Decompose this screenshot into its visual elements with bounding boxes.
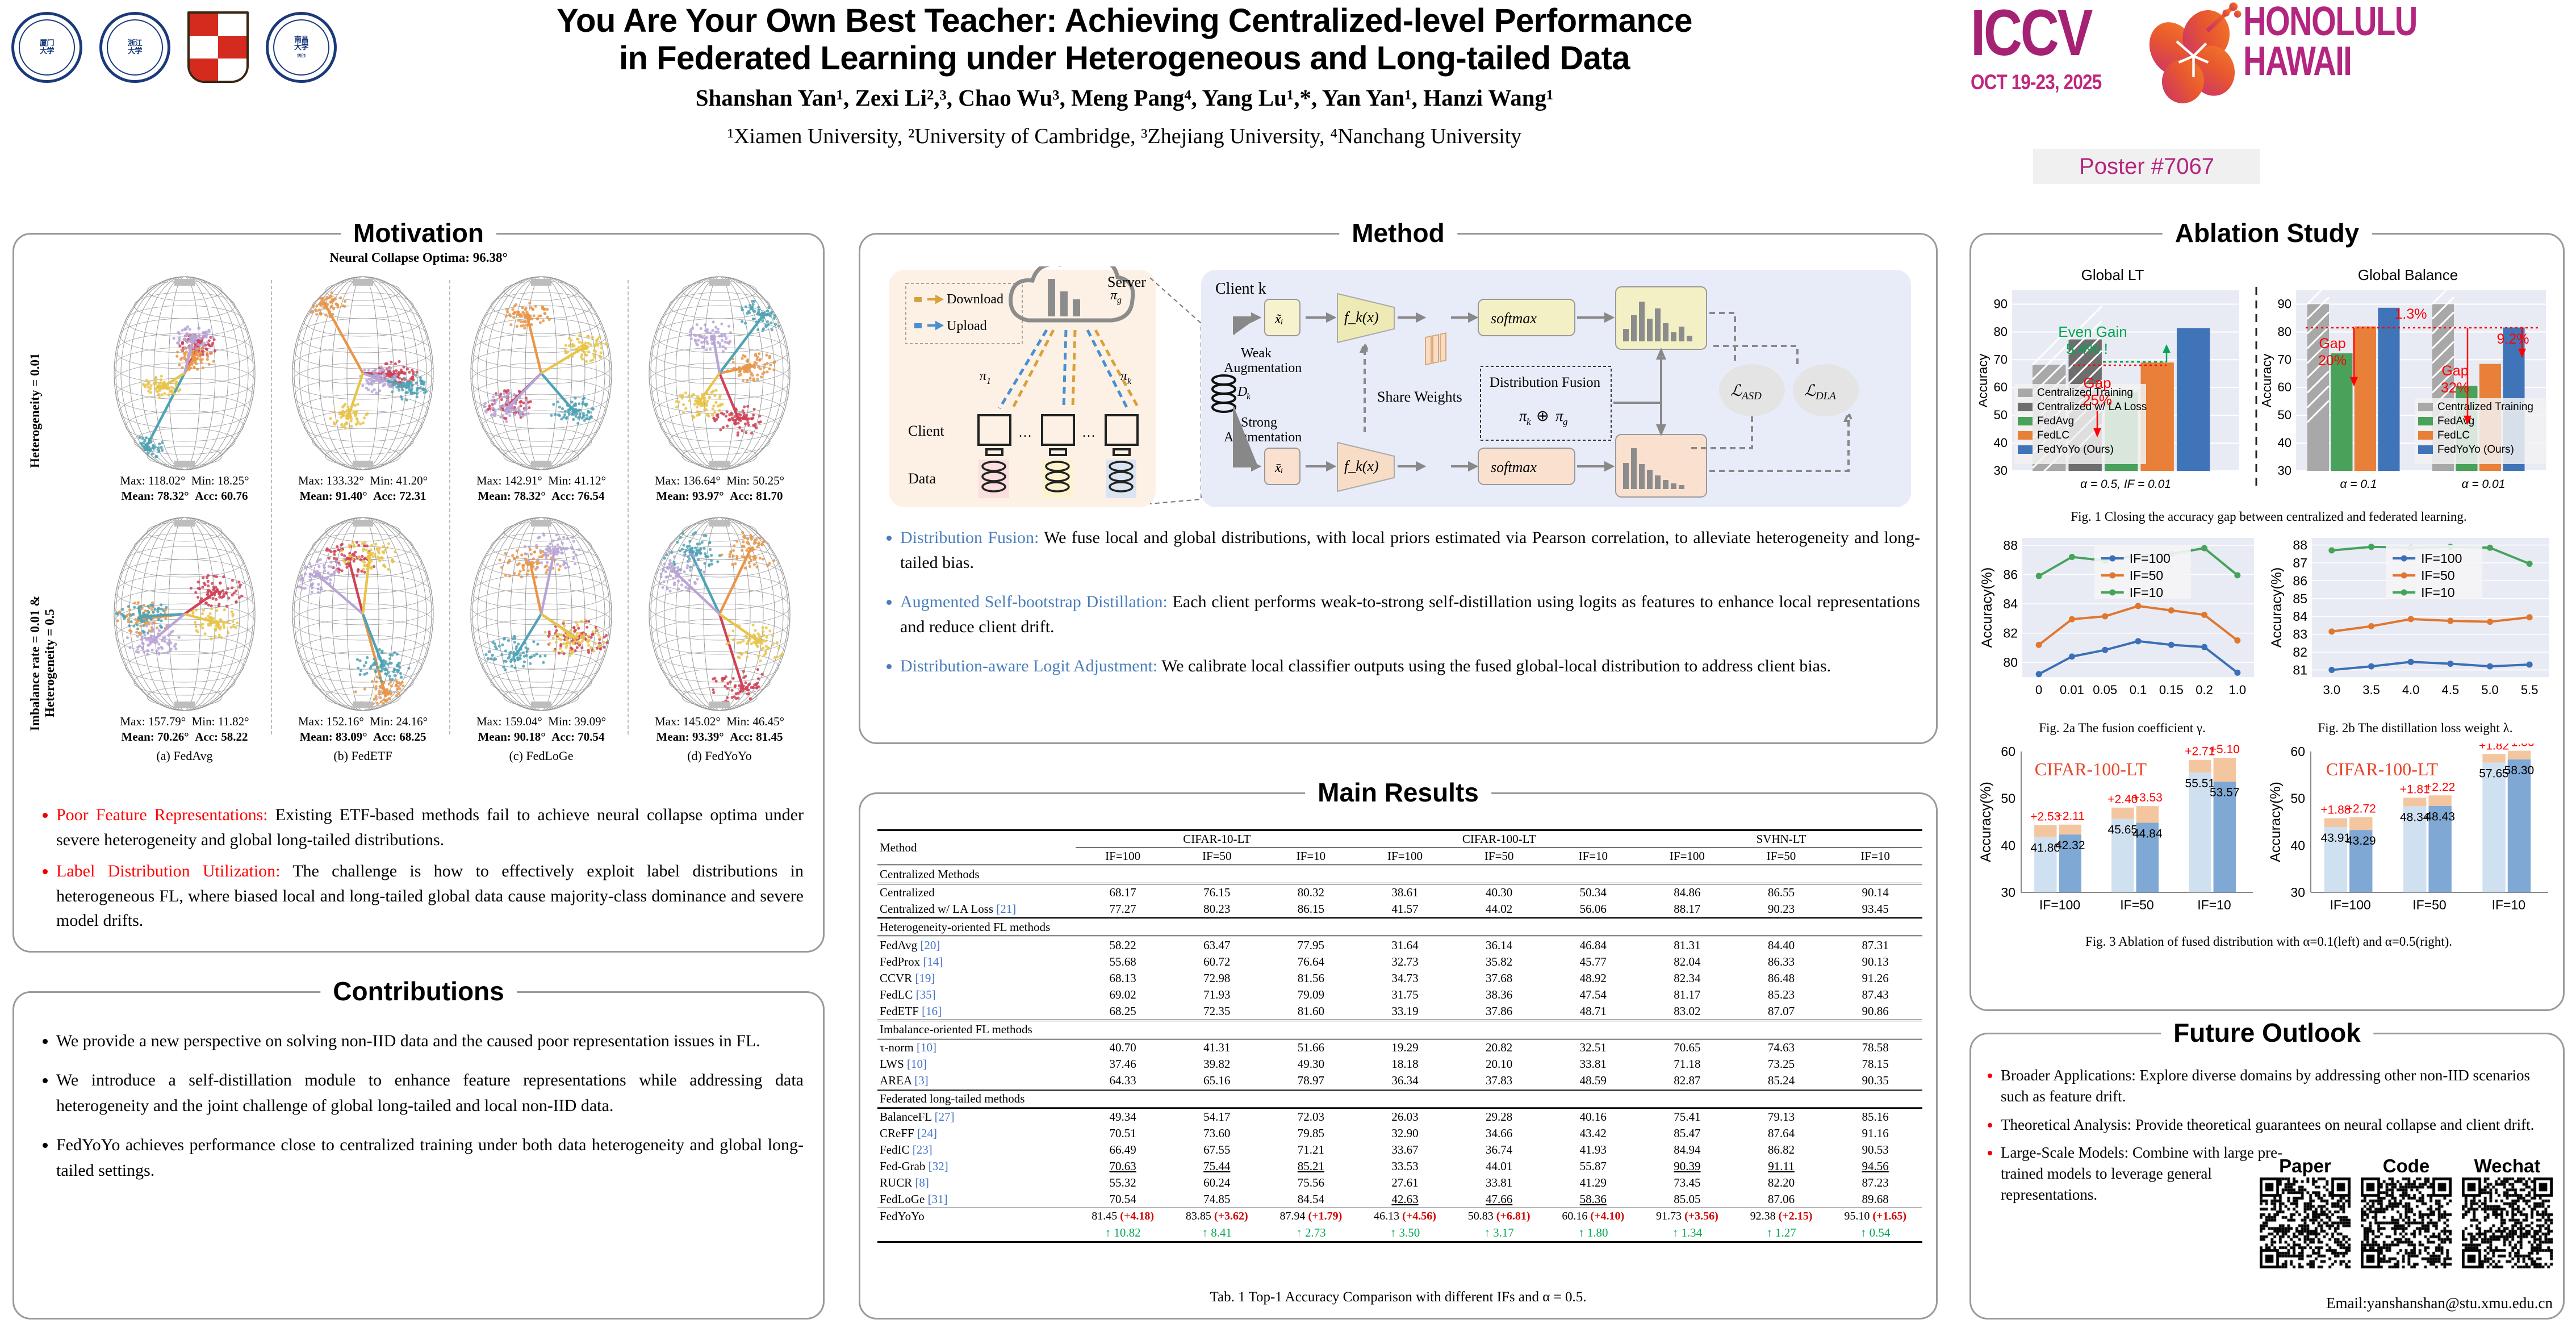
results-table: MethodCIFAR-10-LTCIFAR-100-LTSVHN-LTIF=1… [877,829,1922,1243]
fig1-caption: Fig. 1 Closing the accuracy gap between … [1976,510,2562,524]
sphere-acc: Acc: 81.45 [730,730,783,744]
table-cell-gain: ↑ 8.41 [1170,1225,1264,1242]
table-cell-value: 81.56 [1264,970,1358,987]
table-cell-value: 90.53 [1828,1142,1922,1158]
sphere-max: Max: 118.02° [120,474,185,487]
table-cell-value: 37.68 [1452,970,1546,987]
table-cell-value: 78.58 [1828,1039,1922,1057]
svg-text:81: 81 [2293,662,2307,677]
table-cell-value: 86.82 [1734,1142,1829,1158]
table-cell-value: 79.13 [1734,1108,1829,1126]
table-cell-value: 90.14 [1828,884,1922,901]
table-cell-value: 81.31 [1640,937,1734,954]
svg-text:g: g [1563,416,1568,427]
sphere-acc: Acc: 81.70 [730,489,783,503]
table-header-if: IF=50 [1734,848,1829,866]
table-cell-value: 87.07 [1734,1003,1829,1021]
svg-text:α = 0.01: α = 0.01 [2462,478,2506,491]
table-cell-value: 90.13 [1828,954,1922,970]
table-header-if: IF=100 [1640,848,1734,866]
table-cell-value: 18.18 [1358,1056,1452,1072]
sphere-acc: Acc: 60.76 [195,489,248,503]
table-cell-value: 94.56 [1828,1158,1922,1175]
table-cell-value: 38.61 [1358,884,1452,901]
method-title: Method [1339,218,1457,248]
svg-text:30: 30 [2290,885,2305,900]
svg-text:Centralized Training: Centralized Training [2437,401,2533,413]
table-cell-value: 37.83 [1452,1072,1546,1090]
table-cell-value: 86.33 [1734,954,1829,970]
sphere-stats: Max: 133.32° Min: 41.20°Mean: 91.40° Acc… [278,473,448,504]
sphere-plot [291,275,435,471]
table-cell-value: 91.11 [1734,1158,1829,1175]
table-cell-value: 63.47 [1170,937,1264,954]
svg-text:5.4% !: 5.4% ! [2066,340,2108,357]
table-group-header: Heterogeneity-oriented FL methods [877,918,1922,937]
svg-text:x̄ᵢ: x̄ᵢ [1274,461,1283,475]
table-cell-value: 48.71 [1546,1003,1640,1021]
method-bullets: Distribution Fusion: We fuse local and g… [881,525,1920,694]
svg-text:⊕: ⊕ [1536,407,1549,424]
sphere-max: Max: 145.02° [655,715,721,728]
table-cell-value: 20.10 [1452,1056,1546,1072]
table-cell-value: 81.17 [1640,987,1734,1003]
table-cell-value: 75.44 [1170,1158,1264,1175]
svg-text:3.0: 3.0 [2323,683,2341,697]
table-cell-value: 41.57 [1358,901,1452,918]
table-cell-value: 55.87 [1546,1158,1640,1175]
sphere-max: Max: 159.04° [476,715,542,728]
svg-text:82: 82 [2003,626,2018,641]
table-cell-value: 56.06 [1546,901,1640,918]
sphere-max: Max: 136.64° [655,474,721,487]
sphere-plot-cell: Max: 142.91° Min: 41.12°Mean: 78.32° Acc… [456,275,626,504]
svg-text:48.43: 48.43 [2425,811,2455,824]
author-list: Shanshan Yan¹, Zexi Li²,³, Chao Wu³, Men… [318,84,1931,111]
table-cell-gain: ↑ 0.54 [1828,1225,1922,1242]
table-cell-value: 79.85 [1264,1125,1358,1142]
sphere-method-name: (a) FedAvg [99,749,270,763]
contributions-list: We provide a new perspective on solving … [37,1028,804,1197]
sphere-min: Min: 41.12° [548,474,606,487]
table-header-dataset: CIFAR-100-LT [1358,830,1640,848]
sphere-min: Min: 46.45° [726,715,784,728]
table-cell-value: 71.93 [1170,987,1264,1003]
svg-text:82: 82 [2293,645,2307,659]
table-cell-gain: ↑ 1.34 [1640,1225,1734,1242]
table-header-if: IF=10 [1264,848,1358,866]
table-cell-value: 70.63 [1076,1158,1170,1175]
table-cell-value: 82.04 [1640,954,1734,970]
table-cell-value: 91.73 (+3.56) [1640,1208,1734,1225]
table-cell-value: 37.46 [1076,1056,1170,1072]
table-cell-value: 92.38 (+2.15) [1734,1208,1829,1225]
table-cell-value: 35.82 [1452,954,1546,970]
svg-text:Download: Download [947,292,1003,307]
method-panel: Method Download Upload π g Server π [859,233,1938,744]
main-results-panel: Main Results MethodCIFAR-10-LTCIFAR-100-… [859,792,1938,1320]
table-row: FedETF [16]68.2572.3581.6033.1937.8648.7… [877,1003,1922,1021]
svg-text:25%: 25% [2082,391,2112,408]
table-cell-value: 58.36 [1546,1191,1640,1208]
table-cell-value: 85.47 [1640,1125,1734,1142]
table-cell-value: 76.64 [1264,954,1358,970]
table-row: FedLoGe [31]70.5474.8584.5442.6347.6658.… [877,1191,1922,1208]
table-cell-method: FedAvg [20] [877,937,1076,954]
sphere-max: Max: 152.16° [298,715,364,728]
table-cell-value: 47.66 [1452,1191,1546,1208]
svg-text:84: 84 [2003,596,2018,611]
sphere-mean: Mean: 78.32° [478,489,545,503]
distribution-fusion-label: Distribution Fusion [1490,375,1601,390]
sphere-stats: Max: 145.02° Min: 46.45°Mean: 93.39° Acc… [634,714,805,745]
table-cell-value: 70.51 [1076,1125,1170,1142]
svg-text:50: 50 [1994,408,2008,422]
table-cell-value: 60.24 [1170,1175,1264,1191]
table-cell-value: 84.54 [1264,1191,1358,1208]
fig3-caption: Fig. 3 Ablation of fused distribution wi… [1976,934,2562,949]
table-cell-value: 68.13 [1076,970,1170,987]
table-header-if: IF=10 [1546,848,1640,866]
data-label: Data [908,470,936,487]
table-row: RUCR [8]55.3260.2475.5627.6133.8141.2973… [877,1175,1922,1191]
fig2a-caption: Fig. 2a The fusion coefficient γ. [1976,721,2269,736]
svg-text:1.0: 1.0 [2229,683,2247,697]
svg-text:…: … [1082,425,1095,440]
sphere-plot [648,275,792,471]
server-label: Server [1107,274,1146,290]
table-cell-value: 41.29 [1546,1175,1640,1191]
main-results-title: Main Results [1305,777,1491,808]
iccv-wordmark: ICCV [1971,2,2091,64]
table-cell-value: 85.23 [1734,987,1829,1003]
svg-text:50: 50 [2001,791,2015,806]
svg-text:80: 80 [2278,324,2291,339]
svg-text:60: 60 [2290,744,2305,759]
svg-text:30: 30 [2278,464,2291,478]
table-cell-value: 33.67 [1358,1142,1452,1158]
table-cell-value: 46.13 (+4.56) [1358,1208,1452,1225]
svg-text:1.3%: 1.3% [2395,306,2427,322]
neural-collapse-optima-label: Neural Collapse Optima: 96.38° [14,250,823,265]
sphere-mean: Mean: 93.39° [656,730,724,744]
svg-text:30: 30 [1994,464,2008,478]
sphere-column-divider [271,280,272,734]
sphere-method-name: (b) FedETF [278,749,448,763]
table-cell-value: 41.93 [1546,1142,1640,1158]
table-cell-value: 88.17 [1640,901,1734,918]
svg-text:88: 88 [2293,538,2307,553]
svg-text:0.01: 0.01 [2060,683,2084,697]
svg-text:Gap: Gap [2319,336,2345,352]
svg-text:40: 40 [1994,436,2008,450]
table-cell-method: FedProx [14] [877,954,1076,970]
qr-code-wechat[interactable]: Wechat [2462,1156,2553,1271]
svg-text:x̃ᵢ: x̃ᵢ [1274,312,1283,327]
table-cell-value: 82.20 [1734,1175,1829,1191]
svg-text:+1.86: +1.86 [2504,744,2534,749]
svg-text:α = 0.1: α = 0.1 [2340,478,2377,491]
table-cell-value: 64.33 [1076,1072,1170,1090]
table-cell-value: 83.02 [1640,1003,1734,1021]
table-cell-value: 50.83 (+6.81) [1452,1208,1546,1225]
table-cell-value: 93.45 [1828,901,1922,918]
list-item: We introduce a self-distillation module … [56,1067,804,1118]
table-cell-gain: ↑ 10.82 [1076,1225,1170,1242]
svg-text:58.30: 58.30 [2504,764,2535,777]
svg-text:4.0: 4.0 [2402,683,2420,697]
svg-text:FedYoYo (Ours): FedYoYo (Ours) [2037,444,2114,456]
table-cell-value: 86.48 [1734,970,1829,987]
client-k-label: Client k [1215,280,1266,298]
sphere-plot-cell: Max: 145.02° Min: 46.45°Mean: 93.39° Acc… [634,516,805,763]
sphere-min: Min: 11.82° [192,715,249,728]
table-cell-value: 19.29 [1358,1039,1452,1057]
svg-text:k: k [1127,377,1132,386]
table-cell-value: 20.82 [1452,1039,1546,1057]
table-cell-method: AREA [3] [877,1072,1076,1090]
sphere-mean: Mean: 90.18° [478,730,545,744]
sphere-max: Max: 133.32° [298,474,364,487]
table-row: FedProx [14]55.6860.7276.6432.7335.8245.… [877,954,1922,970]
table-cell-value: 38.36 [1452,987,1546,1003]
table-cell-value: 36.34 [1358,1072,1452,1090]
svg-text:Accuracy(%): Accuracy(%) [2269,567,2285,648]
svg-text:α = 0.5, IF = 0.01: α = 0.5, IF = 0.01 [2080,478,2171,491]
method-bullet-2: Augmented Self-bootstrap Distillation: E… [900,590,1920,639]
qr-code-label: Code [2361,1156,2452,1175]
svg-text:40: 40 [2001,838,2015,853]
svg-text:30: 30 [2001,885,2015,900]
table-cell-value: 42.63 [1358,1191,1452,1208]
table-cell-value: 87.64 [1734,1125,1829,1142]
qr-code-label: Paper [2260,1156,2351,1175]
qr-code-paper[interactable]: Paper [2260,1156,2351,1271]
sphere-acc: Acc: 72.31 [373,489,426,503]
table-row: τ-norm [10]40.7041.3151.6619.2920.8232.5… [877,1039,1922,1057]
svg-text:70: 70 [1994,352,2008,366]
table-cell-value: 74.63 [1734,1039,1829,1057]
svg-text:88: 88 [2003,538,2018,553]
svg-text:Accuracy(%): Accuracy(%) [2268,782,2284,862]
table-cell-value: 40.30 [1452,884,1546,901]
table-header-dataset: CIFAR-10-LT [1076,830,1358,848]
svg-text:k: k [1247,392,1251,402]
sphere-plot-cell: Max: 118.02° Min: 18.25°Mean: 78.32° Acc… [99,275,270,504]
table-cell-value: 90.86 [1828,1003,1922,1021]
sphere-min: Min: 24.16° [370,715,428,728]
svg-text:3.5: 3.5 [2362,683,2380,697]
list-item: Theoretical Analysis: Provide theoretica… [2001,1114,2554,1135]
svg-text:20%: 20% [2318,353,2347,369]
sphere-acc: Acc: 58.22 [195,730,248,744]
svg-text:0.15: 0.15 [2159,683,2184,697]
svg-text:1: 1 [986,377,991,386]
svg-text:IF=10: IF=10 [2197,897,2231,912]
sphere-column-divider [449,280,450,734]
table-row-highlight: FedYoYo81.45 (+4.18)83.85 (+3.62)87.94 (… [877,1208,1922,1225]
page-title: You Are Your Own Best Teacher: Achieving… [318,2,1931,77]
svg-text:IF=100: IF=100 [2421,551,2462,566]
sphere-stats: Max: 142.91° Min: 41.12°Mean: 78.32° Acc… [456,473,626,504]
svg-text:84: 84 [2293,609,2307,624]
svg-text:…: … [1018,425,1032,440]
table-cell-value: 90.35 [1828,1072,1922,1090]
table-cell-value: 78.15 [1828,1056,1922,1072]
table-cell-value: 70.65 [1640,1039,1734,1057]
svg-text:43.29: 43.29 [2346,834,2376,847]
sphere-stats: Max: 136.64° Min: 50.25°Mean: 93.97° Acc… [634,473,805,504]
table-cell-value: 49.30 [1264,1056,1358,1072]
table-cell-gain: ↑ 3.50 [1358,1225,1452,1242]
svg-text:D: D [1237,385,1247,399]
svg-text:Accuracy: Accuracy [2259,353,2274,407]
svg-text:IF=10: IF=10 [2421,585,2454,600]
table-cell-method: FedIC [23] [877,1142,1076,1158]
sphere-mean: Mean: 93.97° [656,489,724,503]
sphere-method-name: (c) FedLoGe [456,749,626,763]
sphere-column-divider [628,280,629,734]
list-item: FedYoYo achieves performance close to ce… [56,1132,804,1183]
table-cell-value: 84.94 [1640,1142,1734,1158]
sphere-mean: Mean: 78.32° [121,489,189,503]
table-cell-value: 72.03 [1264,1108,1358,1126]
ablation-study-title: Ablation Study [2163,218,2372,248]
fig3-charts: 30405060Accuracy(%)CIFAR-100-LT+2.5341.8… [1979,744,2558,931]
table-cell-value: 73.60 [1170,1125,1264,1142]
table-row: Centralized w/ LA Loss [21]77.2780.2386.… [877,901,1922,918]
table-cell-value: 69.02 [1076,987,1170,1003]
table-row: CReFF [24]70.5173.6079.8532.9034.6643.42… [877,1125,1922,1142]
svg-text:44.84: 44.84 [2132,827,2163,840]
method-bullet-3-lead: Distribution-aware Logit Adjustment: [900,657,1157,675]
svg-text:softmax: softmax [1491,310,1537,327]
table-cell-method: FedETF [16] [877,1003,1076,1021]
svg-text:50: 50 [2290,791,2305,806]
svg-text:+2.72: +2.72 [2346,803,2376,816]
svg-text:Accuracy: Accuracy [1979,353,1990,407]
svg-text:86: 86 [2003,567,2018,582]
table-cell-value: 40.70 [1076,1039,1170,1057]
table-header-if: IF=100 [1358,848,1452,866]
table-cell-value: 91.26 [1828,970,1922,987]
svg-text:Weak: Weak [1241,346,1272,361]
svg-text:CIFAR-100-LT: CIFAR-100-LT [2035,759,2147,779]
table-row: BalanceFL [27]49.3454.1772.0326.0329.284… [877,1108,1922,1126]
affiliation-list: ¹Xiamen University, ²University of Cambr… [318,124,1931,149]
table-cell-value: 68.25 [1076,1003,1170,1021]
sphere-acc: Acc: 68.25 [373,730,426,744]
table-cell-value: 27.61 [1358,1175,1452,1191]
sphere-plot [291,516,435,712]
table-cell-value: 44.02 [1452,901,1546,918]
sphere-plot [113,275,257,471]
svg-text:0.1: 0.1 [2130,683,2147,697]
svg-text:Gap: Gap [2441,363,2468,379]
table-cell-value: 34.66 [1452,1125,1546,1142]
sphere-acc: Acc: 70.54 [551,730,604,744]
fig2-charts: 808284868800.010.050.10.150.21.0Accuracy… [1979,531,2558,719]
svg-text:40: 40 [2278,436,2291,450]
svg-text:DLA: DLA [1815,390,1836,402]
svg-text:f_k(x): f_k(x) [1344,309,1379,325]
sphere-stats: Max: 118.02° Min: 18.25°Mean: 78.32° Acc… [99,473,270,504]
sphere-acc: Acc: 76.54 [551,489,604,503]
table-cell-value: 85.16 [1828,1108,1922,1126]
sphere-stats: Max: 152.16° Min: 24.16°Mean: 83.09° Acc… [278,714,448,745]
ablation-study-panel: Ablation Study Global LT30405060708090α … [1969,233,2565,1011]
svg-text:70: 70 [2278,352,2291,366]
table-cell-value: 44.01 [1452,1158,1546,1175]
svg-text:+2.11: +2.11 [2055,810,2085,823]
sphere-min: Min: 41.20° [370,474,428,487]
svg-text:5.0: 5.0 [2481,683,2499,697]
sphere-stats: Max: 159.04° Min: 39.09°Mean: 90.18° Acc… [456,714,626,745]
table-cell-value: 39.82 [1170,1056,1264,1072]
qr-code-code[interactable]: Code [2361,1156,2452,1271]
hibiscus-flower-icon [2141,0,2246,108]
fig2-captions: Fig. 2a The fusion coefficient γ. Fig. 2… [1976,721,2562,736]
table-cell-value: 51.66 [1264,1039,1358,1057]
table-cell-value: 87.43 [1828,987,1922,1003]
table-cell-value: 31.64 [1358,937,1452,954]
iccv-dates: OCT 19-23, 2025 [1971,70,2101,94]
table-cell-value: 73.45 [1640,1175,1734,1191]
table-row: AREA [3]64.3365.1678.9736.3437.8348.5982… [877,1072,1922,1090]
table-cell-value: 85.21 [1264,1158,1358,1175]
title-line-2: in Federated Learning under Heterogeneou… [318,40,1931,77]
poster-number-badge: Poster #7067 [2033,149,2260,184]
sphere-plot [470,275,613,471]
table-cell-value: 32.90 [1358,1125,1452,1142]
sphere-plot-cell: Max: 159.04° Min: 39.09°Mean: 90.18° Acc… [456,516,626,763]
table-cell-value: 31.75 [1358,987,1452,1003]
table-cell-value: 91.16 [1828,1125,1922,1142]
svg-text:60: 60 [1994,380,2008,394]
svg-text:FedYoYo (Ours): FedYoYo (Ours) [2437,444,2514,456]
motivation-bullets: Poor Feature Representations: Existing E… [37,803,804,940]
table-cell-value: 81.45 (+4.18) [1076,1208,1170,1225]
table-cell-value: 84.40 [1734,937,1829,954]
table-cell-value: 77.27 [1076,901,1170,918]
svg-text:k: k [1527,416,1531,427]
table-group-header: Imbalance-oriented FL methods [877,1021,1922,1039]
method-bullet-3: Distribution-aware Logit Adjustment: We … [900,654,1920,679]
table-cell-method: RUCR [8] [877,1175,1076,1191]
svg-text:f_k(x): f_k(x) [1344,458,1379,474]
svg-text:+2.22: +2.22 [2425,780,2455,794]
sphere-plot-cell: Max: 157.79° Min: 11.82°Mean: 70.26° Acc… [99,516,270,763]
table-group-header: Centralized Methods [877,866,1922,884]
table-cell-value: 79.09 [1264,987,1358,1003]
table-cell-value: 33.53 [1358,1158,1452,1175]
svg-text:FedLC: FedLC [2037,429,2069,441]
motivation-title: Motivation [341,218,496,248]
data-stack-icon [978,460,1136,498]
svg-text:90: 90 [2278,297,2291,311]
sphere-stats: Max: 157.79° Min: 11.82°Mean: 70.26° Acc… [99,714,270,745]
table-row: FedAvg [20]58.2263.4777.9531.6436.1446.8… [877,937,1922,954]
iccv-city: HONOLULU [2243,2,2417,42]
contributions-title: Contributions [320,976,517,1007]
table-group-header: Federated long-tailed methods [877,1090,1922,1108]
table-header-if: IF=10 [1828,848,1922,866]
table-cell-value: 43.42 [1546,1125,1640,1142]
table-row-gain: ↑ 10.82↑ 8.41↑ 2.73↑ 3.50↑ 3.17↑ 1.80↑ 1… [877,1225,1922,1242]
table-cell-value: 36.74 [1452,1142,1546,1158]
motivation-bullet-2-lead: Label Distribution Utilization: [56,862,281,880]
future-outlook-panel: Future Outlook Broader Applications: Exp… [1969,1033,2565,1320]
